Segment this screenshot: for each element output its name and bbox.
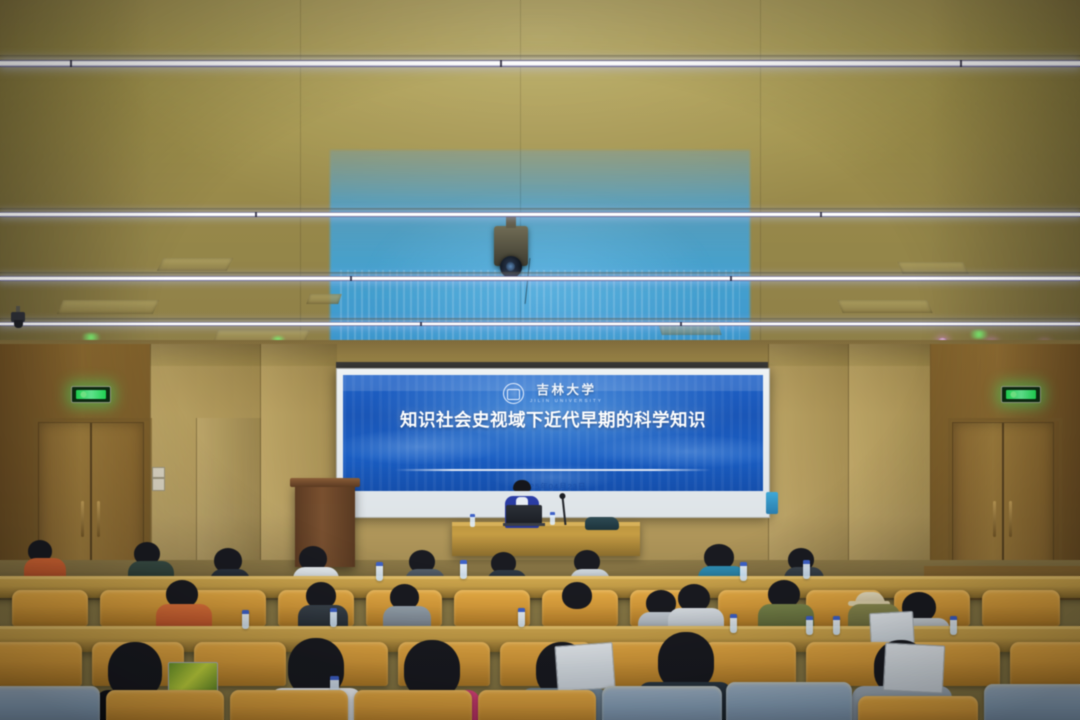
ceiling-seam [760, 0, 761, 352]
exit-sign-right [1001, 386, 1041, 403]
ceiling-vent [837, 300, 932, 313]
university-name-cn: 吉林大学 [536, 384, 596, 397]
water-bottle [376, 562, 383, 581]
lecture-hall-photo: 吉林大学 JILIN UNIVERSITY 知识社会史视域下近代早期的科学知识 … [0, 0, 1080, 720]
ceiling-vent [157, 258, 233, 271]
university-logo: 吉林大学 JILIN UNIVERSITY [343, 383, 763, 404]
seat [858, 696, 978, 720]
audience-laptop [883, 642, 945, 693]
ceiling-rail [0, 55, 1080, 58]
seat [354, 690, 472, 720]
water-bottle [330, 608, 337, 627]
ceiling-seam [520, 0, 521, 352]
seat [478, 690, 596, 720]
exit-sign-left [71, 386, 111, 403]
slide-divider [395, 469, 711, 471]
exit-icon [76, 390, 106, 399]
water-bottle [460, 560, 467, 579]
seat [726, 682, 852, 720]
seat [602, 686, 722, 720]
seat [0, 686, 100, 720]
door-handle[interactable] [81, 501, 84, 537]
audience-seating [0, 556, 1080, 720]
seat [0, 642, 82, 686]
water-bottle [740, 562, 747, 581]
seat [12, 590, 88, 626]
audience-laptop [554, 642, 615, 692]
seat [984, 684, 1080, 720]
presenter-hair [513, 480, 531, 491]
audience-member [762, 580, 808, 626]
audience-member [130, 542, 170, 580]
ceiling-light-strip [0, 212, 1080, 217]
ceiling-projector [494, 226, 528, 266]
seat [982, 590, 1060, 626]
water-bottle [730, 614, 737, 633]
light-switch-plate[interactable] [152, 478, 165, 491]
bag [585, 517, 619, 530]
water-bottle [470, 514, 475, 527]
university-seal-icon [503, 383, 524, 404]
audience-member [24, 540, 64, 576]
water-bottle [833, 616, 840, 635]
door-handle[interactable] [993, 501, 996, 537]
seat [230, 690, 348, 720]
camera-dome [14, 320, 23, 328]
wall-control-panel[interactable] [766, 492, 778, 514]
laptop-lid [506, 505, 542, 524]
audience-member [300, 582, 344, 624]
water-bottle [550, 512, 555, 525]
seat [1010, 642, 1080, 686]
light-switch-plate[interactable] [152, 467, 165, 478]
slide-date: 2025年04月23日 [343, 481, 763, 491]
lectern-top [290, 478, 360, 487]
ceiling-seam [300, 0, 301, 352]
university-name-en: JILIN UNIVERSITY [530, 399, 603, 403]
ceiling-rail [0, 272, 1080, 275]
audience-member [385, 584, 427, 624]
presenter-laptop [506, 505, 542, 527]
ceiling-light-strip [0, 60, 1080, 67]
ceiling-vent [306, 294, 342, 304]
ceiling-vent [57, 300, 159, 314]
green-light-flare [966, 330, 992, 339]
projection-screen: 吉林大学 JILIN UNIVERSITY 知识社会史视域下近代早期的科学知识 … [336, 368, 770, 518]
audience-member [160, 580, 206, 624]
ceiling-light-strip [0, 322, 1080, 326]
exit-icon [1006, 390, 1036, 399]
audience-member [556, 582, 600, 624]
ceiling-rail [0, 318, 1080, 321]
ceiling-light-strip [0, 276, 1080, 281]
water-bottle [242, 610, 249, 629]
water-bottle [518, 608, 525, 627]
water-bottle [803, 560, 810, 579]
water-bottle [806, 616, 813, 635]
door-handle[interactable] [1009, 501, 1012, 537]
audience-member [672, 584, 718, 628]
slide-title: 知识社会史视域下近代早期的科学知识 [363, 411, 743, 432]
ceiling-rail [0, 208, 1080, 211]
laptop-hinge [503, 523, 545, 526]
presentation-slide: 吉林大学 JILIN UNIVERSITY 知识社会史视域下近代早期的科学知识 … [343, 375, 763, 491]
seat [106, 690, 224, 720]
water-bottle [950, 616, 957, 635]
door-handle[interactable] [97, 501, 100, 537]
security-camera-icon [8, 306, 28, 328]
